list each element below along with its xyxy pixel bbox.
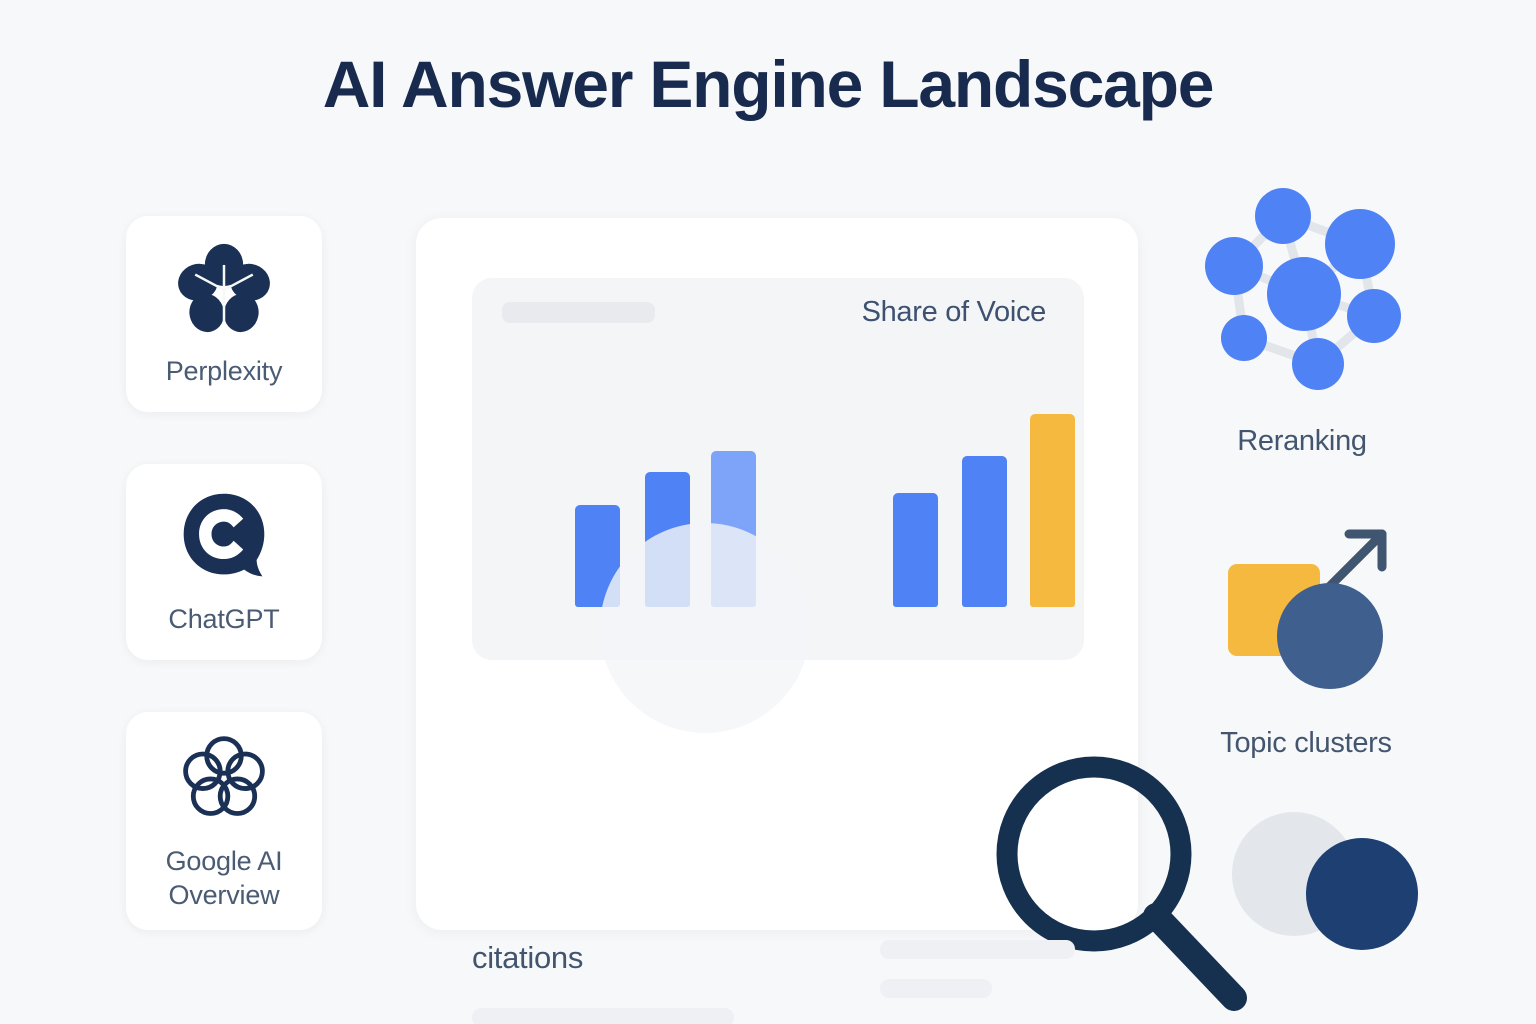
overlapping-shapes-growth-icon [1218, 524, 1408, 704]
skeleton-line-right-2 [880, 979, 992, 998]
concept-label-topic-clusters: Topic clusters [1146, 727, 1466, 760]
skeleton-line-right-1 [880, 940, 1075, 959]
google-ai-overview-orbit-icon [176, 730, 272, 831]
chatgpt-speech-bubble-icon [176, 488, 272, 589]
engine-label-chatgpt: ChatGPT [168, 603, 279, 636]
skeleton-line-left-1 [472, 1008, 734, 1024]
overlapping-bubbles-icon [1228, 806, 1418, 961]
engine-card-chatgpt[interactable]: ChatGPT [126, 464, 322, 660]
analytics-panel: Share of Voice citations [416, 218, 1138, 930]
bar-C[interactable] [711, 451, 756, 607]
bar-E[interactable] [962, 456, 1007, 607]
share-of-voice-chart-card[interactable]: Share of Voice [472, 278, 1084, 660]
bar-B[interactable] [645, 472, 690, 607]
engine-label-perplexity: Perplexity [166, 355, 283, 388]
engine-label-google-ai-overview: Google AI Overview [166, 845, 283, 912]
concept-label-reranking: Reranking [1142, 425, 1462, 458]
engine-card-perplexity[interactable]: Perplexity [126, 216, 322, 412]
citations-label: citations [472, 940, 583, 976]
engine-card-google-ai-overview[interactable]: Google AI Overview [126, 712, 322, 930]
engine-label-line-1: Google AI [166, 846, 283, 876]
bar-chart-plot-area [472, 278, 1084, 660]
bar-D[interactable] [893, 493, 938, 607]
infographic-canvas: AI Answer Engine Landscape Perplexity [0, 0, 1536, 1024]
engine-label-line-2: Overview [169, 880, 280, 910]
bar-A[interactable] [575, 505, 620, 607]
network-graph-icon [1188, 182, 1420, 409]
page-title: AI Answer Engine Landscape [0, 48, 1536, 121]
bar-F[interactable] [1030, 414, 1075, 607]
perplexity-flower-icon [176, 240, 272, 341]
